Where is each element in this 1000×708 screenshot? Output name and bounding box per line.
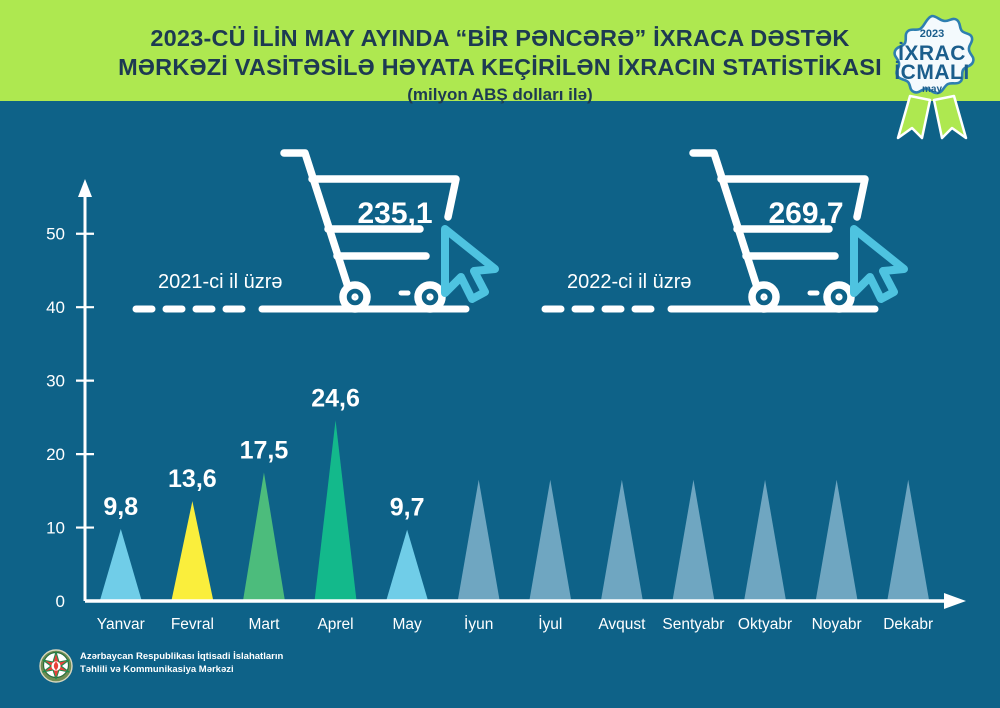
x-axis-month-label: Sentyabr [662,616,724,633]
footer-org-name: Azərbaycan Respublikası İqtisadi İslahat… [80,651,283,676]
badge-month: may [922,84,942,95]
annotation-caption-2022: 2022-ci il üzrə [567,271,692,293]
cursor-arrow-icon [854,229,904,299]
annotation-caption-2021: 2021-ci il üzrə [158,271,283,293]
x-axis-month-label: Avqust [598,616,646,633]
placeholder-bar [672,480,714,601]
data-bar [100,529,142,601]
data-bar [243,472,285,601]
x-axis-month-label: Aprel [317,616,353,633]
y-axis-tick-label: 10 [46,519,65,538]
bar-value-label: 9,8 [103,493,138,521]
data-bar [171,501,213,601]
y-axis-tick-label: 0 [56,592,65,611]
y-axis-tick-label: 30 [46,372,65,391]
annotation-value-2022: 269,7 [768,197,843,230]
x-axis-month-label: Oktyabr [738,616,792,633]
x-axis-month-label: İyun [464,615,493,633]
data-bar [315,420,357,601]
y-axis-tick-label: 40 [46,298,65,317]
y-axis-tick-label: 20 [46,445,65,464]
x-axis-month-label: Fevral [171,616,214,633]
x-axis-month-label: Yanvar [97,616,145,633]
x-axis-month-label: Dekabr [883,616,933,633]
x-axis-month-label: Mart [248,616,280,633]
placeholder-bar [744,480,786,601]
x-axis-month-label: Noyabr [812,616,862,633]
annotation-2021: 235,1 2021-ci il üzrə [136,153,495,309]
bar-value-label: 17,5 [240,436,289,464]
x-axis-month-label: İyul [538,615,562,633]
title-line-1: 2023-CÜ İLİN MAY AYINDA “BİR PƏNCƏRƏ” İX… [0,24,1000,53]
placeholder-bar [816,480,858,601]
x-axis-month-label: May [392,616,422,633]
data-bar [386,530,428,601]
footer: Azərbaycan Respublikası İqtisadi İslahat… [38,648,458,690]
placeholder-bar [529,480,571,601]
footer-line-1: Azərbaycan Respublikası İqtisadi İslahat… [80,651,283,664]
cursor-arrow-icon [445,229,495,299]
y-axis: 01020304050 [46,179,94,611]
bar-value-label: 24,6 [311,384,360,412]
placeholder-bar [887,480,929,601]
title-line-2: MƏRKƏZİ VASİTƏSİLƏ HƏYATA KEÇİRİLƏN İXRA… [0,53,1000,82]
y-axis-tick-label: 50 [46,225,65,244]
bar-value-label: 13,6 [168,465,217,493]
bar-chart: 01020304050 YanvarFevralMartAprelMayİyun… [0,101,1000,708]
shopping-cart-icon [284,153,456,309]
bars-group [100,420,929,601]
header-band: 2023-CÜ İLİN MAY AYINDA “BİR PƏNCƏRƏ” İX… [0,0,1000,101]
page-title: 2023-CÜ İLİN MAY AYINDA “BİR PƏNCƏRƏ” İX… [0,24,1000,105]
azerbaijan-state-emblem-icon [38,648,74,684]
placeholder-bar [601,480,643,601]
placeholder-bar [458,480,500,601]
annotation-value-2021: 235,1 [357,197,432,230]
chart-area: 01020304050 YanvarFevralMartAprelMayİyun… [0,101,1000,708]
badge-line-2: İCMALI [894,61,969,84]
badge-year: 2023 [920,28,944,40]
bar-value-label: 9,7 [390,494,425,522]
annotation-2022: 269,7 2022-ci il üzrə [545,153,904,309]
footer-line-2: Təhlili və Kommunikasiya Mərkəzi [80,664,283,677]
shopping-cart-icon [693,153,865,309]
